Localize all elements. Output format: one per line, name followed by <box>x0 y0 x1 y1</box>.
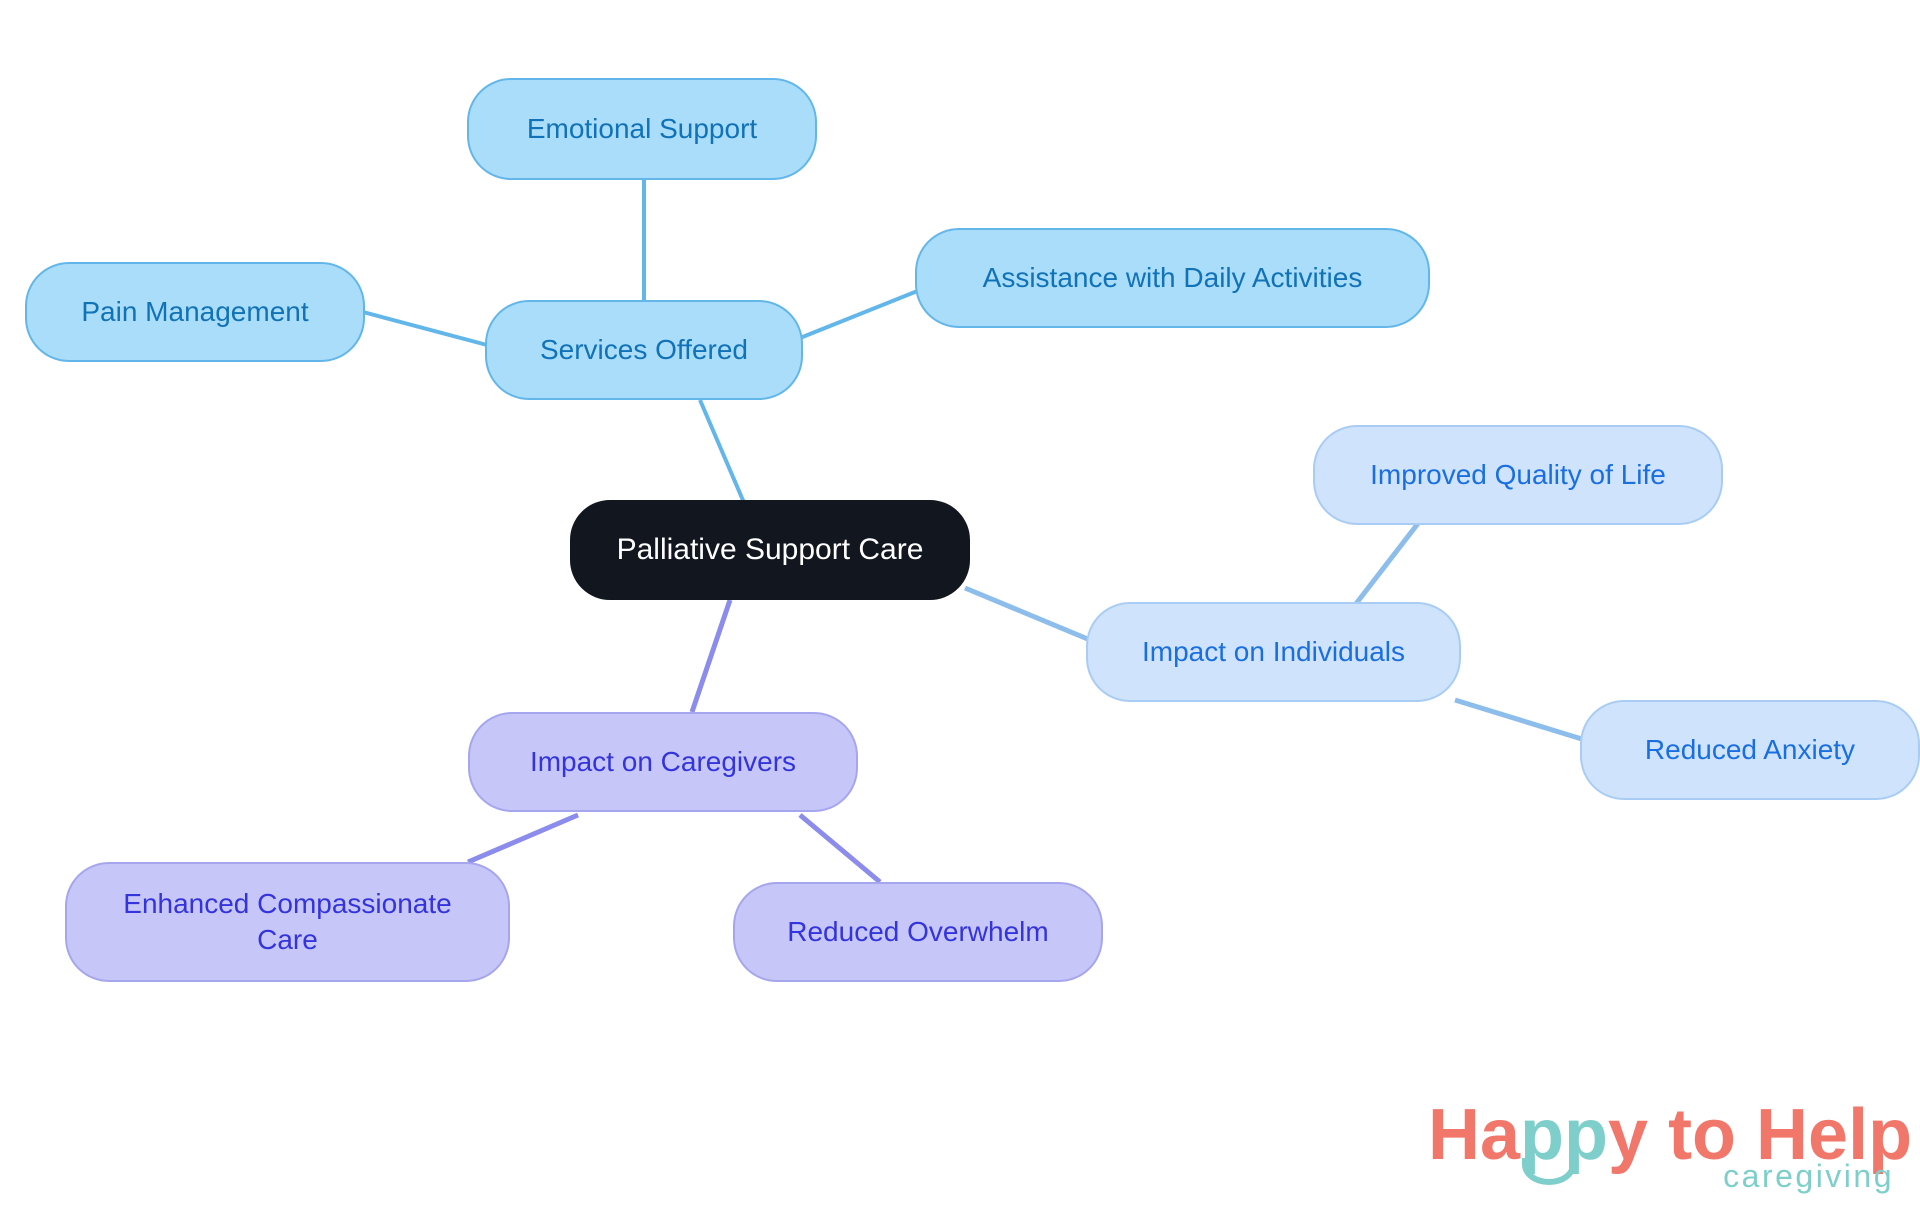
node-reduced-overwhelm[interactable]: Reduced Overwhelm <box>733 882 1103 982</box>
node-root[interactable]: Palliative Support Care <box>570 500 970 600</box>
edge-individuals-reduced-anxiety <box>1455 700 1585 740</box>
edge-caregivers-enhanced-care <box>468 815 578 862</box>
mindmap-canvas: Palliative Support Care Services Offered… <box>0 0 1920 1215</box>
node-impact-on-caregivers[interactable]: Impact on Caregivers <box>468 712 858 812</box>
logo-tagline: caregiving <box>1723 1158 1894 1195</box>
node-services-offered[interactable]: Services Offered <box>485 300 803 400</box>
node-emotional-support[interactable]: Emotional Support <box>467 78 817 180</box>
edge-root-impact-individuals <box>965 588 1090 640</box>
edge-layer <box>0 0 1920 1215</box>
node-enhanced-compassionate-care[interactable]: Enhanced Compassionate Care <box>65 862 510 982</box>
edge-root-services <box>700 400 745 505</box>
logo-text-ha: Ha <box>1428 1095 1520 1175</box>
edge-services-assistance <box>800 290 920 338</box>
node-impact-on-individuals[interactable]: Impact on Individuals <box>1086 602 1461 702</box>
node-assistance-with-daily-activities[interactable]: Assistance with Daily Activities <box>915 228 1430 328</box>
edge-caregivers-reduced-overwhelm <box>800 815 880 882</box>
brand-logo: Happy to Help caregiving <box>1428 1096 1898 1200</box>
node-improved-quality-of-life[interactable]: Improved Quality of Life <box>1313 425 1723 525</box>
smile-icon <box>1522 1158 1576 1185</box>
node-reduced-anxiety[interactable]: Reduced Anxiety <box>1580 700 1920 800</box>
edge-root-impact-caregivers <box>692 600 730 712</box>
edge-services-pain-management <box>363 312 487 345</box>
node-pain-management[interactable]: Pain Management <box>25 262 365 362</box>
